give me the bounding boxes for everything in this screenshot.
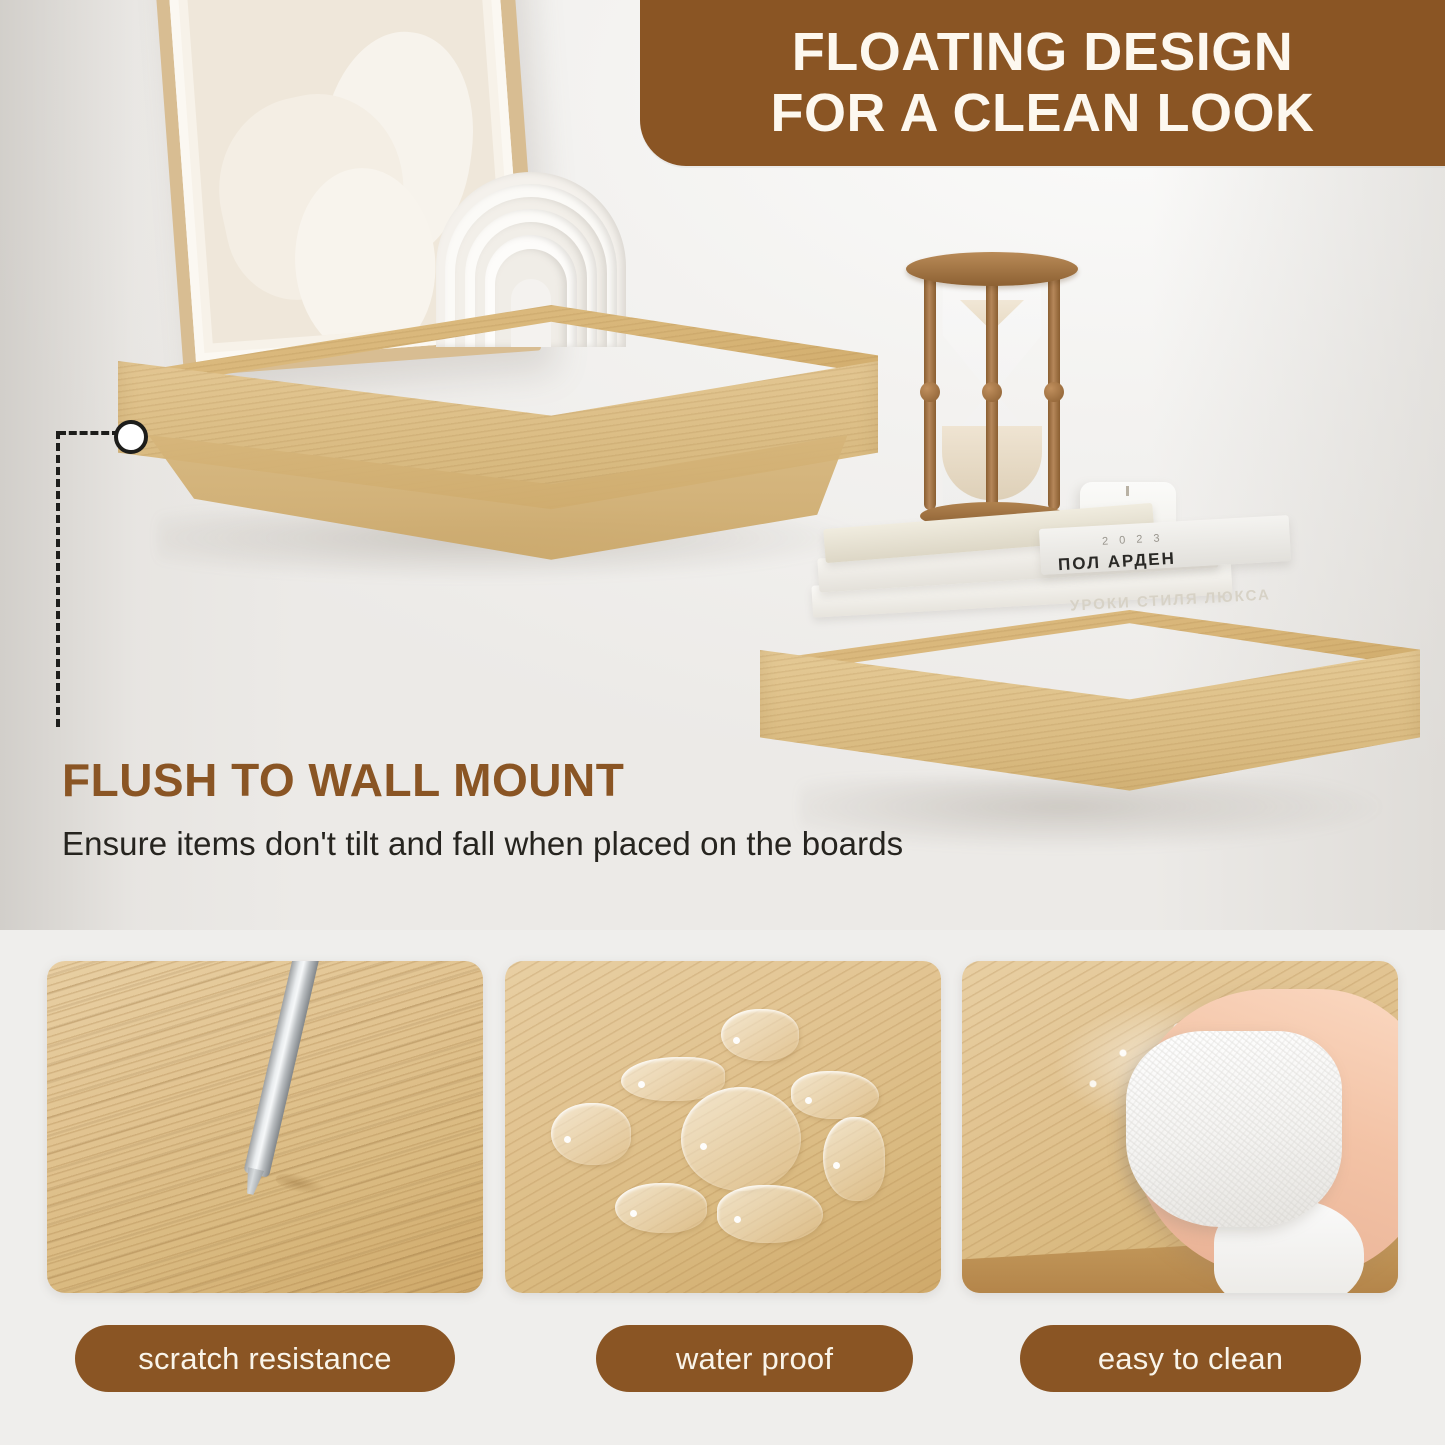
feature-pill-scratch[interactable]: scratch resistance [75,1325,455,1392]
hourglass-knob [920,382,940,402]
callout-line-vertical [56,431,60,727]
hourglass-knob [1044,382,1064,402]
hourglass-top-cap [906,252,1078,286]
feature-pill-water[interactable]: water proof [596,1325,913,1392]
callout-point-marker [114,420,148,454]
page-title: FLUSH TO WALL MOUNT [62,757,903,803]
water-droplet [681,1087,801,1191]
cleaning-cloth [1126,1031,1342,1227]
banner-line-2: FOR A CLEAN LOOK [771,86,1315,141]
callout-line-horizontal [58,431,120,435]
water-droplet [717,1185,823,1243]
scratch-resistance-photo [47,961,483,1293]
candle-wick [1126,486,1129,496]
water-droplet [791,1071,879,1119]
banner-line-1: FLOATING DESIGN [792,25,1294,80]
water-droplet [551,1103,631,1165]
feature-labels: scratch resistance water proof easy to c… [0,1325,1445,1395]
water-proof-photo [505,961,941,1293]
page-subtitle: Ensure items don't tilt and fall when pl… [62,825,903,863]
headline-block: FLUSH TO WALL MOUNT Ensure items don't t… [62,757,903,863]
easy-to-clean-photo [962,961,1398,1293]
water-droplet [615,1183,707,1233]
product-feature-image: УРОКИ СТИЛЯ ЛЮКСА ПОЛ АРДЕН 2 0 2 3 FLOA… [0,0,1445,1445]
hourglass-knob [982,382,1002,402]
header-banner: FLOATING DESIGN FOR A CLEAN LOOK [640,0,1445,166]
water-droplet [721,1009,799,1061]
feature-panels [0,961,1445,1293]
feature-pill-clean[interactable]: easy to clean [1020,1325,1361,1392]
water-droplet [823,1117,885,1201]
wooden-hourglass [906,252,1078,530]
upper-floating-shelf [118,305,878,555]
